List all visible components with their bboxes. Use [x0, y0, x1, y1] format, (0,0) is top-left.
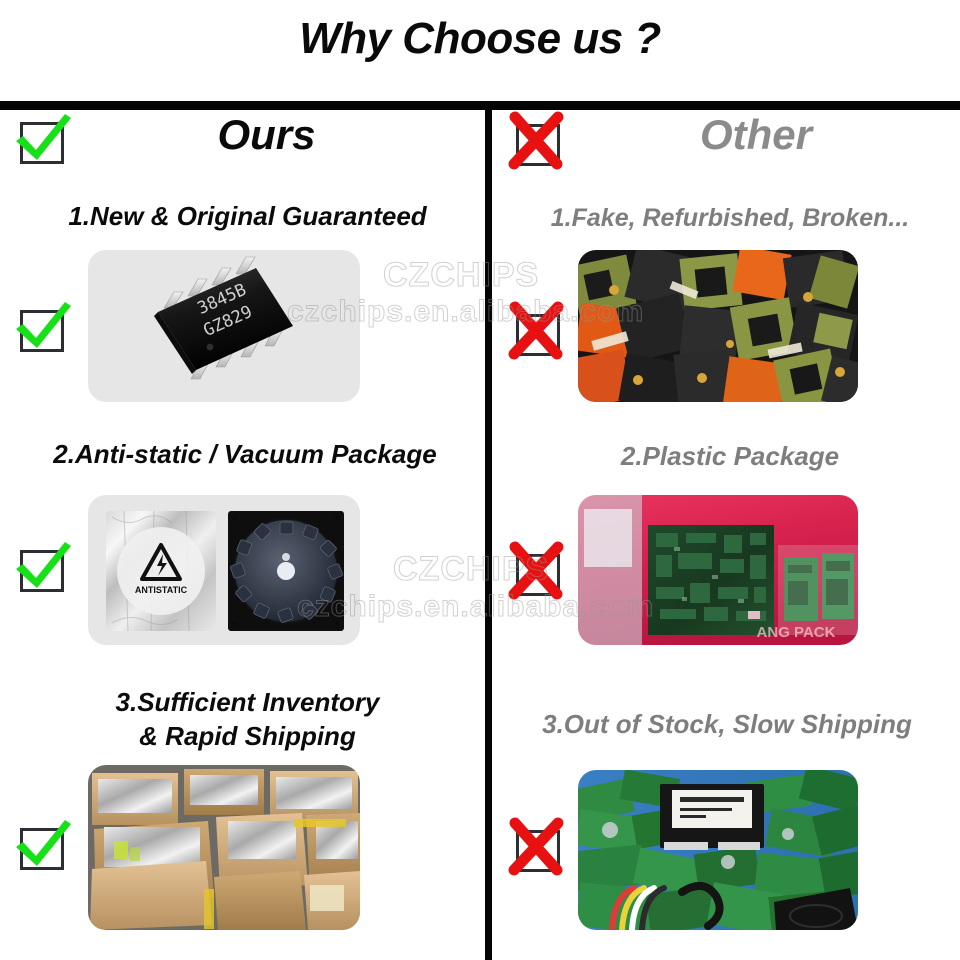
- row-3-ours-text-line2: & Rapid Shipping: [20, 722, 475, 751]
- ic-chip-photo-content: 3845B GZ829: [88, 250, 360, 402]
- check-glyph: [10, 814, 76, 880]
- row-3-ours-text-line1: 3.Sufficient Inventory: [20, 688, 475, 717]
- green-check-icon: [14, 114, 70, 170]
- plastic-package-illustration: ANG PACK: [578, 495, 858, 645]
- cross-glyph: [506, 110, 572, 176]
- column-ours: Ours 1.New & Original Guaranteed: [0, 110, 485, 960]
- ic-chip-illustration: 3845B GZ829: [88, 250, 360, 402]
- column-divider-rule: [485, 110, 492, 960]
- cross-glyph: [506, 300, 572, 366]
- pcb-scrap-illustration: [578, 770, 858, 930]
- pcb-scrap-photo: [578, 770, 858, 930]
- check-glyph: [10, 108, 76, 174]
- pcb-scrap-photo-content: [578, 770, 858, 930]
- red-x-icon: [510, 306, 566, 362]
- ic-chip-photo: 3845B GZ829: [88, 250, 360, 402]
- plastic-bag-pcb-photo: ANG PACK: [578, 495, 858, 645]
- cross-glyph: [506, 540, 572, 606]
- column-other: Other 1.Fake, Refurbished, Broken...: [492, 110, 960, 960]
- plastic-package-overlay-text: ANG PACK: [757, 624, 836, 641]
- antistatic-bag-label: ANTISTATIC: [135, 585, 188, 595]
- scrap-cpu-pile-photo-content: [578, 250, 858, 402]
- green-check-icon: [14, 302, 70, 358]
- header-divider-rule: [0, 101, 960, 110]
- warehouse-boxes-photo: [88, 765, 360, 930]
- scrap-cpu-pile-photo: [578, 250, 858, 402]
- green-check-icon: [14, 820, 70, 876]
- red-x-icon: [510, 546, 566, 602]
- row-3-other-text: 3.Out of Stock, Slow Shipping: [494, 710, 960, 739]
- cross-glyph: [506, 816, 572, 882]
- page-title: Why Choose us ?: [0, 14, 960, 64]
- check-glyph: [10, 296, 76, 362]
- column-header-ours: Ours: [0, 114, 509, 156]
- check-glyph: [10, 536, 76, 602]
- antistatic-bag-photo-content: ANTISTATIC: [88, 495, 360, 645]
- antistatic-illustration: ANTISTATIC: [88, 495, 360, 645]
- boxes-illustration: [88, 765, 360, 930]
- why-choose-us-infographic: Why Choose us ? Ours 1.New & Original Gu…: [0, 0, 960, 960]
- row-2-ours-text: 2.Anti-static / Vacuum Package: [10, 440, 480, 469]
- row-1-other-text: 1.Fake, Refurbished, Broken...: [500, 204, 960, 232]
- scrap-cpu-illustration: [578, 250, 858, 402]
- antistatic-bag-photo: ANTISTATIC: [88, 495, 360, 645]
- warehouse-boxes-photo-content: [88, 765, 360, 930]
- row-2-other-text: 2.Plastic Package: [500, 442, 960, 471]
- plastic-bag-pcb-photo-content: ANG PACK: [578, 495, 858, 645]
- green-check-icon: [14, 542, 70, 598]
- red-x-icon: [510, 116, 566, 172]
- row-1-ours-text: 1.New & Original Guaranteed: [20, 202, 475, 231]
- red-x-icon: [510, 822, 566, 878]
